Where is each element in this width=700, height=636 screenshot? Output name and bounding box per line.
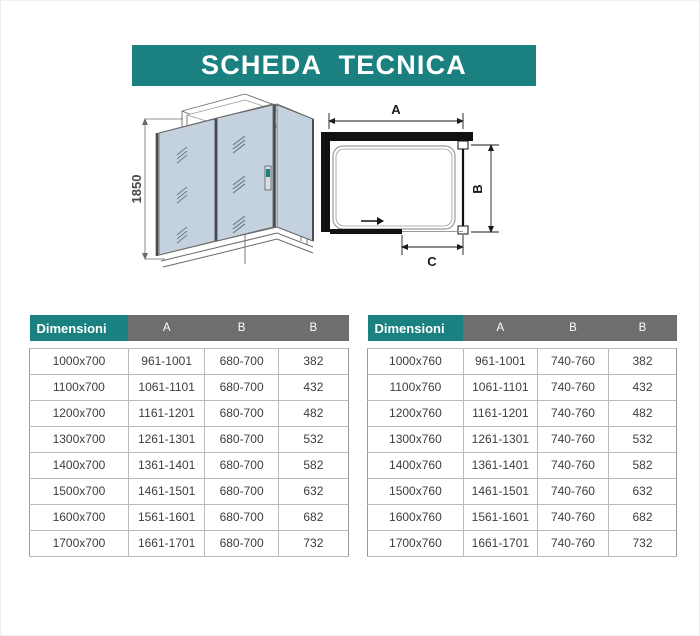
table-cell: 1361-1401: [128, 452, 205, 478]
door-direction-arrow: [361, 217, 384, 225]
table-cell: 1200x760: [368, 400, 464, 426]
table-row: 1600x7001561-1601680-700682: [30, 504, 349, 530]
table-body: 1000x760961-1001740-7603821100x7601061-1…: [368, 341, 677, 556]
datasheet-page: SCHEDA TECNICA: [0, 0, 700, 636]
table-cell: 1600x760: [368, 504, 464, 530]
table-cell: 1661-1701: [128, 530, 205, 556]
page-title: SCHEDA TECNICA: [201, 50, 467, 81]
table-cell: 740-760: [537, 452, 608, 478]
table-cell: 1161-1201: [463, 400, 537, 426]
table-header-row: Dimensioni A B B: [30, 315, 349, 341]
dimensions-table: Dimensioni A B B 1000x700961-1001680-700…: [29, 315, 349, 557]
table-row: 1300x7601261-1301740-760532: [368, 426, 677, 452]
spec-table-700: Dimensioni A B B 1000x700961-1001680-700…: [29, 315, 349, 557]
table-cell: 482: [278, 400, 348, 426]
table-row: 1000x700961-1001680-700382: [30, 348, 349, 374]
table-cell: 732: [609, 530, 677, 556]
column-header-dimensioni: Dimensioni: [368, 315, 464, 341]
table-body: 1000x700961-1001680-7003821100x7001061-1…: [30, 341, 349, 556]
technical-drawings: 1850 A: [1, 89, 700, 294]
dimension-c-line: [401, 235, 464, 255]
table-cell: 1100x760: [368, 374, 464, 400]
table-cell: 1261-1301: [463, 426, 537, 452]
table-cell: 382: [278, 348, 348, 374]
height-dimension-label: 1850: [129, 175, 144, 204]
table-row: 1600x7601561-1601740-760682: [368, 504, 677, 530]
column-header-a: A: [128, 315, 205, 341]
shower-enclosure-plan: A: [311, 99, 511, 279]
table-cell: 1461-1501: [128, 478, 205, 504]
table-cell: 432: [609, 374, 677, 400]
table-cell: 740-760: [537, 348, 608, 374]
table-cell: 740-760: [537, 400, 608, 426]
table-row: 1000x760961-1001740-760382: [368, 348, 677, 374]
table-row: 1500x7001461-1501680-700632: [30, 478, 349, 504]
table-row: 1400x7601361-1401740-760582: [368, 452, 677, 478]
table-cell: 1461-1501: [463, 478, 537, 504]
table-cell: 680-700: [205, 348, 278, 374]
dimension-c-label: C: [427, 254, 437, 269]
table-cell: 680-700: [205, 504, 278, 530]
table-cell: 1500x760: [368, 478, 464, 504]
table-cell: 740-760: [537, 426, 608, 452]
table-row: 1400x7001361-1401680-700582: [30, 452, 349, 478]
table-spacer: [368, 341, 677, 348]
table-spacer: [30, 341, 349, 348]
table-cell: 1300x700: [30, 426, 129, 452]
table-cell: 482: [609, 400, 677, 426]
table-cell: 582: [278, 452, 348, 478]
table-cell: 1561-1601: [128, 504, 205, 530]
table-cell: 961-1001: [128, 348, 205, 374]
table-cell: 680-700: [205, 374, 278, 400]
table-row: 1500x7601461-1501740-760632: [368, 478, 677, 504]
wall-top: [321, 132, 473, 141]
spec-table-760: Dimensioni A B B 1000x760961-1001740-760…: [367, 315, 677, 557]
table-cell: 532: [278, 426, 348, 452]
column-header-dimensioni: Dimensioni: [30, 315, 129, 341]
column-header-b1: B: [537, 315, 608, 341]
table-cell: 680-700: [205, 452, 278, 478]
table-cell: 632: [278, 478, 348, 504]
table-cell: 1400x700: [30, 452, 129, 478]
table-cell: 382: [609, 348, 677, 374]
door-handle: [265, 166, 271, 190]
table-header-row: Dimensioni A B B: [368, 315, 677, 341]
table-cell: 532: [609, 426, 677, 452]
table-cell: 1000x700: [30, 348, 129, 374]
dimensions-table: Dimensioni A B B 1000x760961-1001740-760…: [367, 315, 677, 557]
table-cell: 680-700: [205, 478, 278, 504]
table-cell: 1661-1701: [463, 530, 537, 556]
table-row: 1100x7001061-1101680-700432: [30, 374, 349, 400]
table-cell: 1361-1401: [463, 452, 537, 478]
table-cell: 1300x760: [368, 426, 464, 452]
table-cell: 682: [278, 504, 348, 530]
table-row: 1300x7001261-1301680-700532: [30, 426, 349, 452]
column-header-b2: B: [278, 315, 348, 341]
table-cell: 740-760: [537, 504, 608, 530]
title-banner: SCHEDA TECNICA: [132, 45, 536, 86]
table-cell: 740-760: [537, 530, 608, 556]
column-header-b2: B: [609, 315, 677, 341]
table-cell: 1061-1101: [463, 374, 537, 400]
sliding-door-panel: [330, 229, 402, 234]
table-cell: 680-700: [205, 426, 278, 452]
dimension-a-label: A: [391, 102, 401, 117]
table-cell: 732: [278, 530, 348, 556]
table-cell: 961-1001: [463, 348, 537, 374]
glass-panel-side: [277, 105, 313, 241]
table-cell: 1700x760: [368, 530, 464, 556]
table-row: 1700x7001661-1701680-700732: [30, 530, 349, 556]
table-cell: 1161-1201: [128, 400, 205, 426]
table-cell: 680-700: [205, 530, 278, 556]
table-cell: 1700x700: [30, 530, 129, 556]
column-header-b1: B: [205, 315, 278, 341]
shower-tray-outline: [333, 146, 455, 229]
table-cell: 740-760: [537, 374, 608, 400]
column-header-a: A: [463, 315, 537, 341]
table-cell: 1500x700: [30, 478, 129, 504]
table-cell: 1200x700: [30, 400, 129, 426]
table-cell: 1100x700: [30, 374, 129, 400]
table-row: 1100x7601061-1101740-760432: [368, 374, 677, 400]
shower-enclosure-isometric: 1850: [127, 89, 317, 289]
table-cell: 1261-1301: [128, 426, 205, 452]
table-cell: 1561-1601: [463, 504, 537, 530]
table-cell: 682: [609, 504, 677, 530]
wall-left: [321, 132, 330, 232]
table-row: 1700x7601661-1701740-760732: [368, 530, 677, 556]
table-cell: 1061-1101: [128, 374, 205, 400]
table-row: 1200x7001161-1201680-700482: [30, 400, 349, 426]
table-cell: 432: [278, 374, 348, 400]
table-row: 1200x7601161-1201740-760482: [368, 400, 677, 426]
table-cell: 1400x760: [368, 452, 464, 478]
side-panel-plan: [458, 141, 468, 234]
table-cell: 632: [609, 478, 677, 504]
table-cell: 680-700: [205, 400, 278, 426]
table-cell: 582: [609, 452, 677, 478]
table-cell: 740-760: [537, 478, 608, 504]
table-cell: 1600x700: [30, 504, 129, 530]
table-cell: 1000x760: [368, 348, 464, 374]
dimension-b-label: B: [470, 184, 485, 193]
